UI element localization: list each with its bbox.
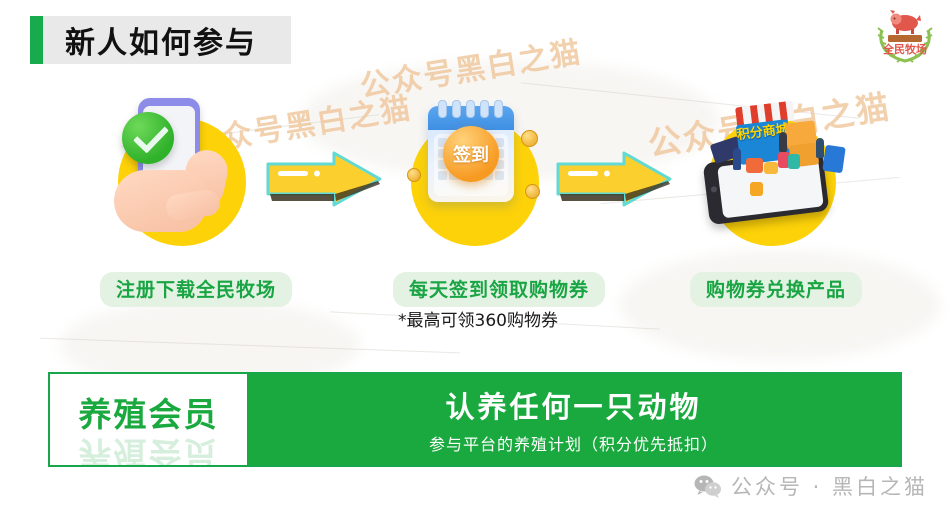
shopper-figure	[816, 138, 824, 158]
step-item-1: 注册下载全民牧场	[100, 96, 270, 246]
page-header: 新人如何参与	[30, 16, 291, 64]
membership-badge-label: 养殖会员	[79, 388, 219, 436]
header-accent-bar	[30, 16, 43, 64]
shopper-figure	[779, 132, 787, 152]
banner-title: 认养任何一只动物	[445, 384, 701, 426]
step-note-2: *最高可领360购物券	[393, 306, 563, 331]
step-item-2: 签到 每天签到领取购物券 *最高可领360购物券	[393, 96, 563, 246]
svg-text:全民牧场: 全民牧场	[882, 42, 927, 56]
check-icon	[122, 112, 174, 164]
slide-canvas: 公众号黑白之猫 公众号黑白之猫 公众号黑白之猫 公众号黑白之猫 公众号黑白之猫 …	[0, 0, 950, 515]
price-tag	[750, 182, 763, 196]
shopper-figure	[733, 148, 741, 170]
membership-badge-reflection: 养殖会员	[79, 432, 219, 467]
calendar-icon: 签到	[428, 106, 514, 202]
coin-icon	[407, 168, 421, 182]
banner-subtitle: 参与平台的养殖计划（积分优先抵扣）	[429, 431, 718, 455]
watermark-text: 公众号黑白之猫	[357, 27, 585, 105]
footer-credit: 公众号 · 黑白之猫	[694, 471, 928, 501]
step-label-2: 每天签到领取购物券	[393, 272, 605, 307]
step-label-1: 注册下载全民牧场	[100, 272, 292, 307]
shopping-bag	[788, 154, 800, 169]
step-label-3: 购物券兑换产品	[690, 272, 862, 307]
wechat-icon	[694, 474, 722, 498]
gift-box	[764, 162, 778, 174]
banner-content: 认养任何一只动物 参与平台的养殖计划（积分优先抵扣）	[247, 374, 900, 465]
coupon-tag	[822, 145, 845, 174]
membership-badge: 养殖会员 养殖会员	[50, 374, 247, 465]
footer-text: 公众号 · 黑白之猫	[731, 471, 928, 501]
calendar-checkin-illustration: 签到	[403, 96, 553, 246]
coin-icon	[521, 130, 538, 147]
steps-row: 注册下载全民牧场	[0, 96, 950, 311]
phone-check-illustration	[110, 96, 260, 246]
coin-icon	[525, 184, 540, 199]
header-plate: 新人如何参与	[43, 16, 291, 64]
step-item-3: 积分商城 购物券兑换产品	[690, 96, 860, 246]
points-mall-illustration: 积分商城	[700, 96, 850, 246]
brand-logo: 全民牧场	[874, 6, 936, 66]
arrow-step1-to-step2	[262, 148, 386, 214]
gift-box	[746, 158, 763, 173]
membership-banner: 养殖会员 养殖会员 认养任何一只动物 参与平台的养殖计划（积分优先抵扣）	[48, 372, 902, 467]
checkin-button[interactable]: 签到	[443, 126, 499, 182]
page-title: 新人如何参与	[65, 18, 257, 62]
arrow-step2-to-step3	[552, 148, 676, 214]
